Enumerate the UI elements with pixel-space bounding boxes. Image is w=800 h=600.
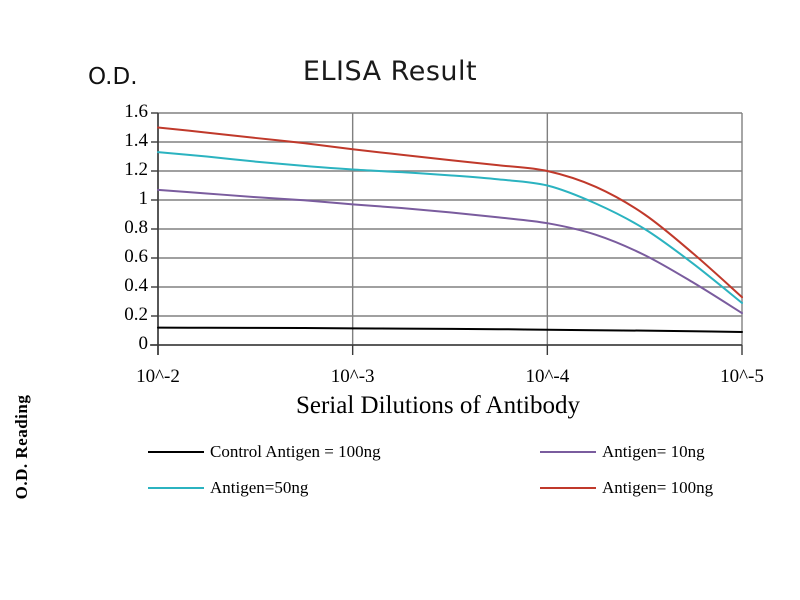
x-axis-title: Serial Dilutions of Antibody [188,392,688,420]
legend-color-swatch [540,487,596,489]
elisa-chart-figure: O.D. Reading O.D. ELISA Result 1.61.41.2… [0,0,800,600]
series-line [158,190,742,313]
legend-label: Antigen= 100ng [602,478,713,498]
legend-item[interactable]: Antigen=50ng [148,476,308,500]
legend-label: Antigen=50ng [210,478,308,498]
plot-area [0,0,800,600]
legend-label: Antigen= 10ng [602,442,705,462]
legend-label: Control Antigen = 100ng [210,442,381,462]
chart-legend: Control Antigen = 100ngAntigen= 10ngAnti… [148,440,768,502]
legend-color-swatch [148,451,204,453]
series-line [158,152,742,303]
legend-item[interactable]: Antigen= 10ng [540,440,705,464]
legend-item[interactable]: Control Antigen = 100ng [148,440,381,464]
legend-color-swatch [148,487,204,489]
legend-item[interactable]: Antigen= 100ng [540,476,713,500]
legend-color-swatch [540,451,596,453]
series-line [158,328,742,332]
